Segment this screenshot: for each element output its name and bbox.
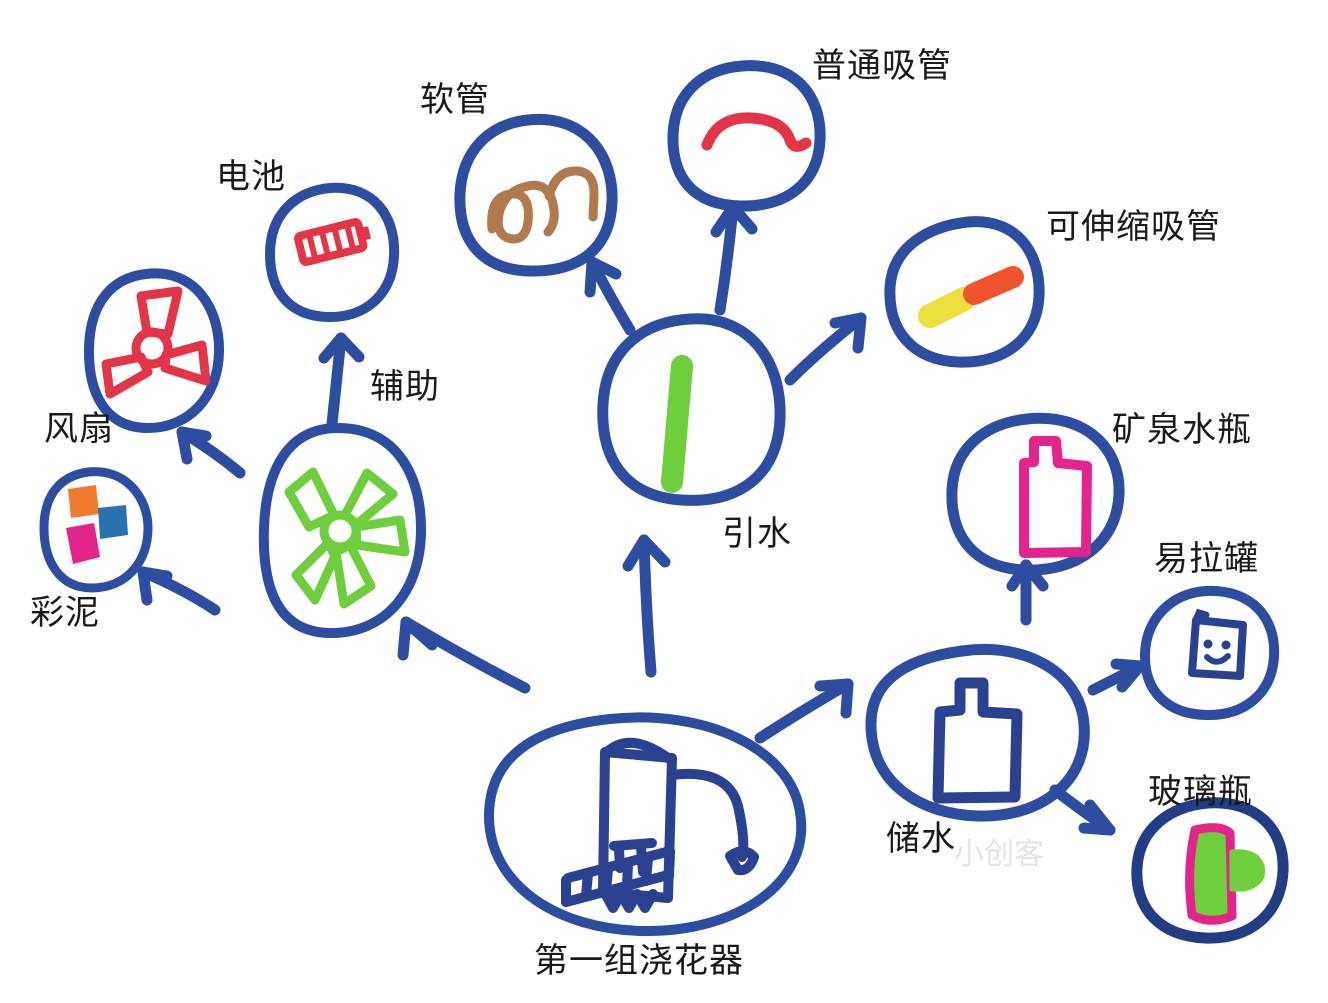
edge-greenfan-to-clay — [143, 572, 215, 610]
node-can[interactable] — [1145, 591, 1274, 715]
node-root-watering-device[interactable] — [489, 717, 801, 931]
node-hose[interactable] — [460, 119, 612, 271]
yellow-orange-straw — [930, 277, 1013, 316]
node-clay[interactable] — [44, 472, 148, 588]
node-red-fan[interactable] — [89, 273, 219, 428]
drawing-canvas: 第一组浇花器 风扇 彩泥 电池 辅助 软管 普通吸管 可伸缩吸管 引水 储水 矿… — [0, 0, 1328, 1003]
mind-map-svg — [0, 0, 1328, 1003]
blue-bottle-outline — [938, 683, 1017, 798]
edge-waterstore-to-glassbottle — [1055, 790, 1110, 830]
label-battery: 电池 — [216, 160, 286, 196]
node-circle-water-guide — [603, 319, 780, 501]
label-glass-bottle: 玻璃瓶 — [1148, 775, 1253, 811]
red-fan-drawing — [106, 291, 206, 394]
magenta-bottle-outline — [1024, 441, 1087, 553]
label-fan-red: 风扇 — [44, 412, 114, 448]
node-plain-straw[interactable] — [673, 66, 820, 206]
label-assist: 辅助 — [370, 370, 440, 406]
red-battery — [297, 219, 372, 262]
green-fan-drawing — [289, 472, 405, 604]
node-glass-bottle[interactable] — [1137, 803, 1283, 938]
label-can: 易拉罐 — [1154, 542, 1259, 578]
color-clay-blocks — [66, 485, 128, 564]
edge-waterguide-to-telestraw — [790, 318, 861, 380]
edge-greenfan-to-battery — [324, 338, 359, 424]
edge-root-to-waterguide — [628, 540, 665, 672]
edge-waterstore-to-can — [1093, 664, 1140, 690]
node-green-fan[interactable] — [264, 428, 421, 633]
node-water-guide[interactable] — [603, 319, 780, 501]
edge-greenfan-to-redfan — [182, 432, 240, 473]
label-water-store: 储水 — [886, 822, 956, 858]
label-clay: 彩泥 — [30, 596, 100, 632]
node-battery[interactable] — [270, 188, 394, 317]
node-water-store[interactable] — [871, 649, 1084, 816]
node-circle-water-store — [871, 649, 1084, 816]
label-plain-straw: 普通吸管 — [812, 49, 952, 85]
green-tube — [672, 366, 682, 482]
node-telescopic-straw[interactable] — [890, 222, 1039, 362]
node-circle-plain-straw — [673, 66, 820, 206]
label-water-guide: 引水 — [722, 517, 792, 553]
clay-block-orange — [68, 485, 99, 518]
edge-root-to-waterstore — [760, 684, 848, 738]
edge-waterguide-to-hose — [590, 262, 630, 330]
node-circle-hose — [460, 119, 612, 271]
clay-block-blue — [98, 505, 128, 539]
clay-block-magenta — [66, 523, 100, 564]
label-telescopic-straw: 可伸缩吸管 — [1046, 210, 1221, 246]
watermark-text: 小创客 — [954, 829, 1044, 873]
label-root: 第一组浇花器 — [534, 944, 744, 980]
green-magenta-bottle — [1190, 828, 1263, 921]
node-mineral-bottle[interactable] — [952, 418, 1119, 570]
red-curved-straw — [707, 118, 806, 146]
watering-device-drawing — [566, 743, 754, 908]
smiley-can — [1192, 613, 1243, 676]
label-hose: 软管 — [420, 83, 490, 119]
node-circle-can — [1145, 591, 1274, 715]
brown-coiled-hose — [492, 171, 594, 239]
label-mineral-bottle: 矿泉水瓶 — [1112, 413, 1252, 449]
edge-root-to-greenfan — [403, 622, 525, 688]
edge-waterguide-to-plainstraw — [716, 207, 752, 310]
